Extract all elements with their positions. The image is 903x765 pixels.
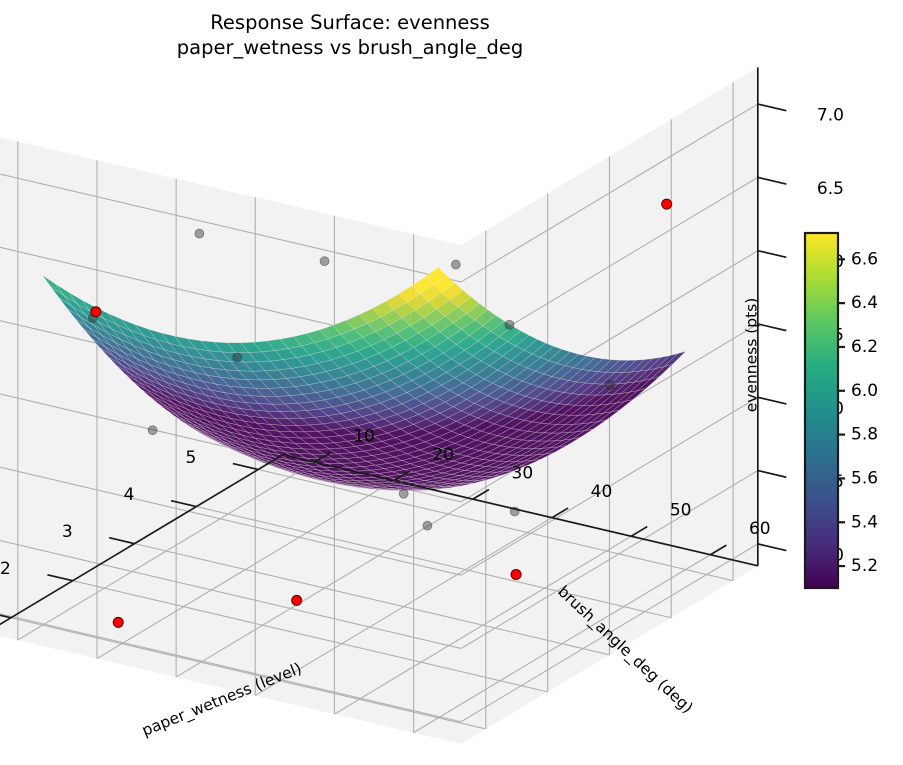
tick-label-y: 40 [591,482,613,502]
tick-label-x: 3 [62,522,73,542]
highlight-data-point [662,199,672,209]
tick-label-z: 7.0 [817,106,844,126]
colorbar-tick-label: 5.6 [851,468,878,488]
colorbar-tick-label: 6.4 [851,293,878,313]
highlight-data-point [292,595,302,605]
tick-label-y: 10 [353,426,375,446]
observed-data-point [399,489,408,498]
axis-label-z: evenness (pts) [743,298,761,413]
tick-label-y: 30 [512,464,534,484]
colorbar-tick-label: 5.8 [851,425,878,445]
observed-data-point [233,353,242,362]
tick-z [758,251,786,258]
tick-z [758,544,786,551]
observed-data-point [195,229,204,238]
tick-label-z: 6.5 [817,179,844,199]
tick-z [758,324,786,331]
colorbar-tick-label: 6.0 [851,381,878,401]
highlight-data-point [511,569,521,579]
colorbar-tick-label: 5.2 [851,556,878,576]
tick-label-x: 4 [124,485,135,505]
observed-data-point [605,380,614,389]
observed-data-point [451,260,460,269]
tick-label-x: 2 [0,559,11,579]
tick-label-y: 50 [670,501,692,521]
tick-label-x: 5 [186,448,197,468]
colorbar-gradient [805,233,838,588]
tick-label-y: 20 [432,445,454,465]
tick-label-y: 60 [749,519,771,539]
observed-data-point [505,320,514,329]
figure-canvas: Response Surface: evenness paper_wetness… [0,0,903,765]
tick-z [758,397,786,404]
highlight-data-point [91,307,101,317]
observed-data-point [148,426,157,435]
colorbar-tick-label: 6.6 [851,249,878,269]
observed-data-point [320,257,329,266]
surface-plot-svg: 123451020304050604.04.55.05.56.06.57.0 p… [0,0,903,765]
colorbar-tick-label: 6.2 [851,337,878,357]
tick-z [758,104,786,111]
highlight-data-point [113,617,123,627]
tick-z [758,177,786,184]
observed-data-point [423,521,432,530]
tick-z [758,471,786,478]
colorbar-tick-label: 5.4 [851,512,878,532]
